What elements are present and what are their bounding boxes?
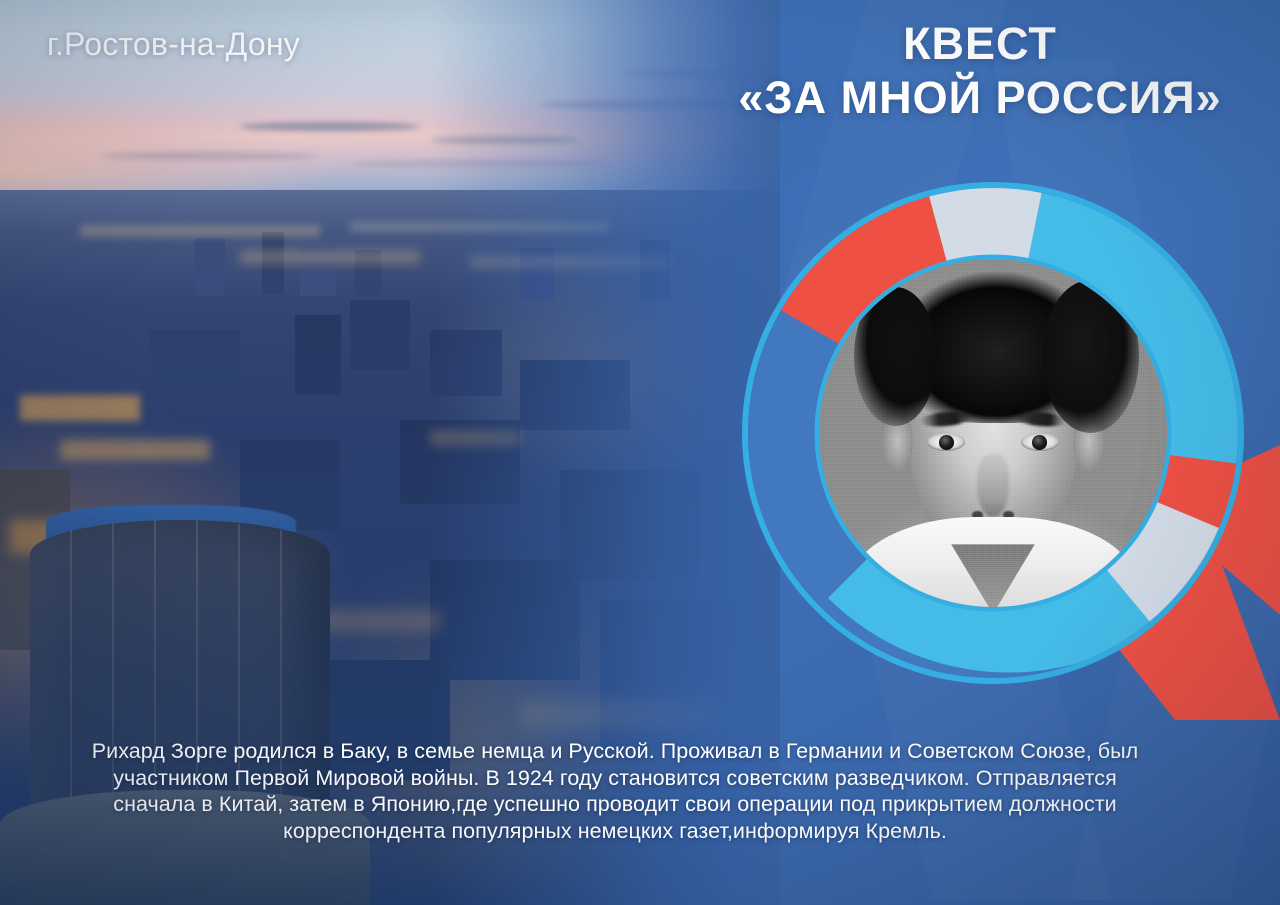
caption-text: Рихард Зорге родился в Баку, в семье нем… bbox=[74, 738, 1156, 844]
title-line-2: «ЗА МНОЙ РОССИЯ» bbox=[700, 70, 1260, 126]
magnifying-glass-icon bbox=[705, 145, 1280, 720]
city-label: г.Ростов-на-Дону bbox=[47, 26, 300, 63]
title-line-1: КВЕСТ bbox=[700, 18, 1260, 70]
portrait-image bbox=[819, 259, 1167, 607]
poster-title: КВЕСТ «ЗА МНОЙ РОССИЯ» bbox=[700, 18, 1260, 126]
poster-root: г.Ростов-на-Дону КВЕСТ «ЗА МНОЙ РОССИЯ» bbox=[0, 0, 1280, 905]
portrait-avatar bbox=[819, 259, 1167, 607]
